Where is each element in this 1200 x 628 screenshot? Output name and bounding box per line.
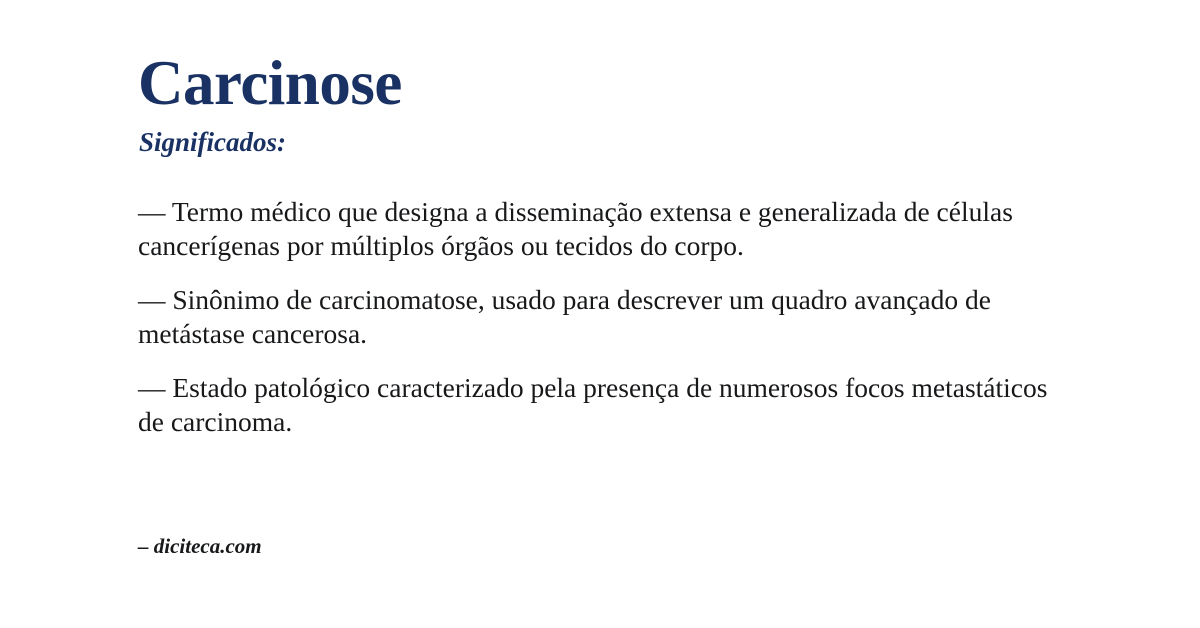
definition-item: — Estado patológico caracterizado pela p… — [138, 371, 1063, 439]
source-attribution: – diciteca.com — [138, 534, 262, 559]
definitions-list: — Termo médico que designa a disseminaçã… — [138, 195, 1063, 439]
definition-card: Carcinose Significados: — Termo médico q… — [0, 0, 1200, 628]
page-title: Carcinose — [138, 52, 402, 115]
subtitle-significados: Significados: — [139, 128, 286, 158]
definition-item: — Sinônimo de carcinomatose, usado para … — [138, 283, 1063, 351]
definition-item: — Termo médico que designa a disseminaçã… — [138, 195, 1063, 263]
